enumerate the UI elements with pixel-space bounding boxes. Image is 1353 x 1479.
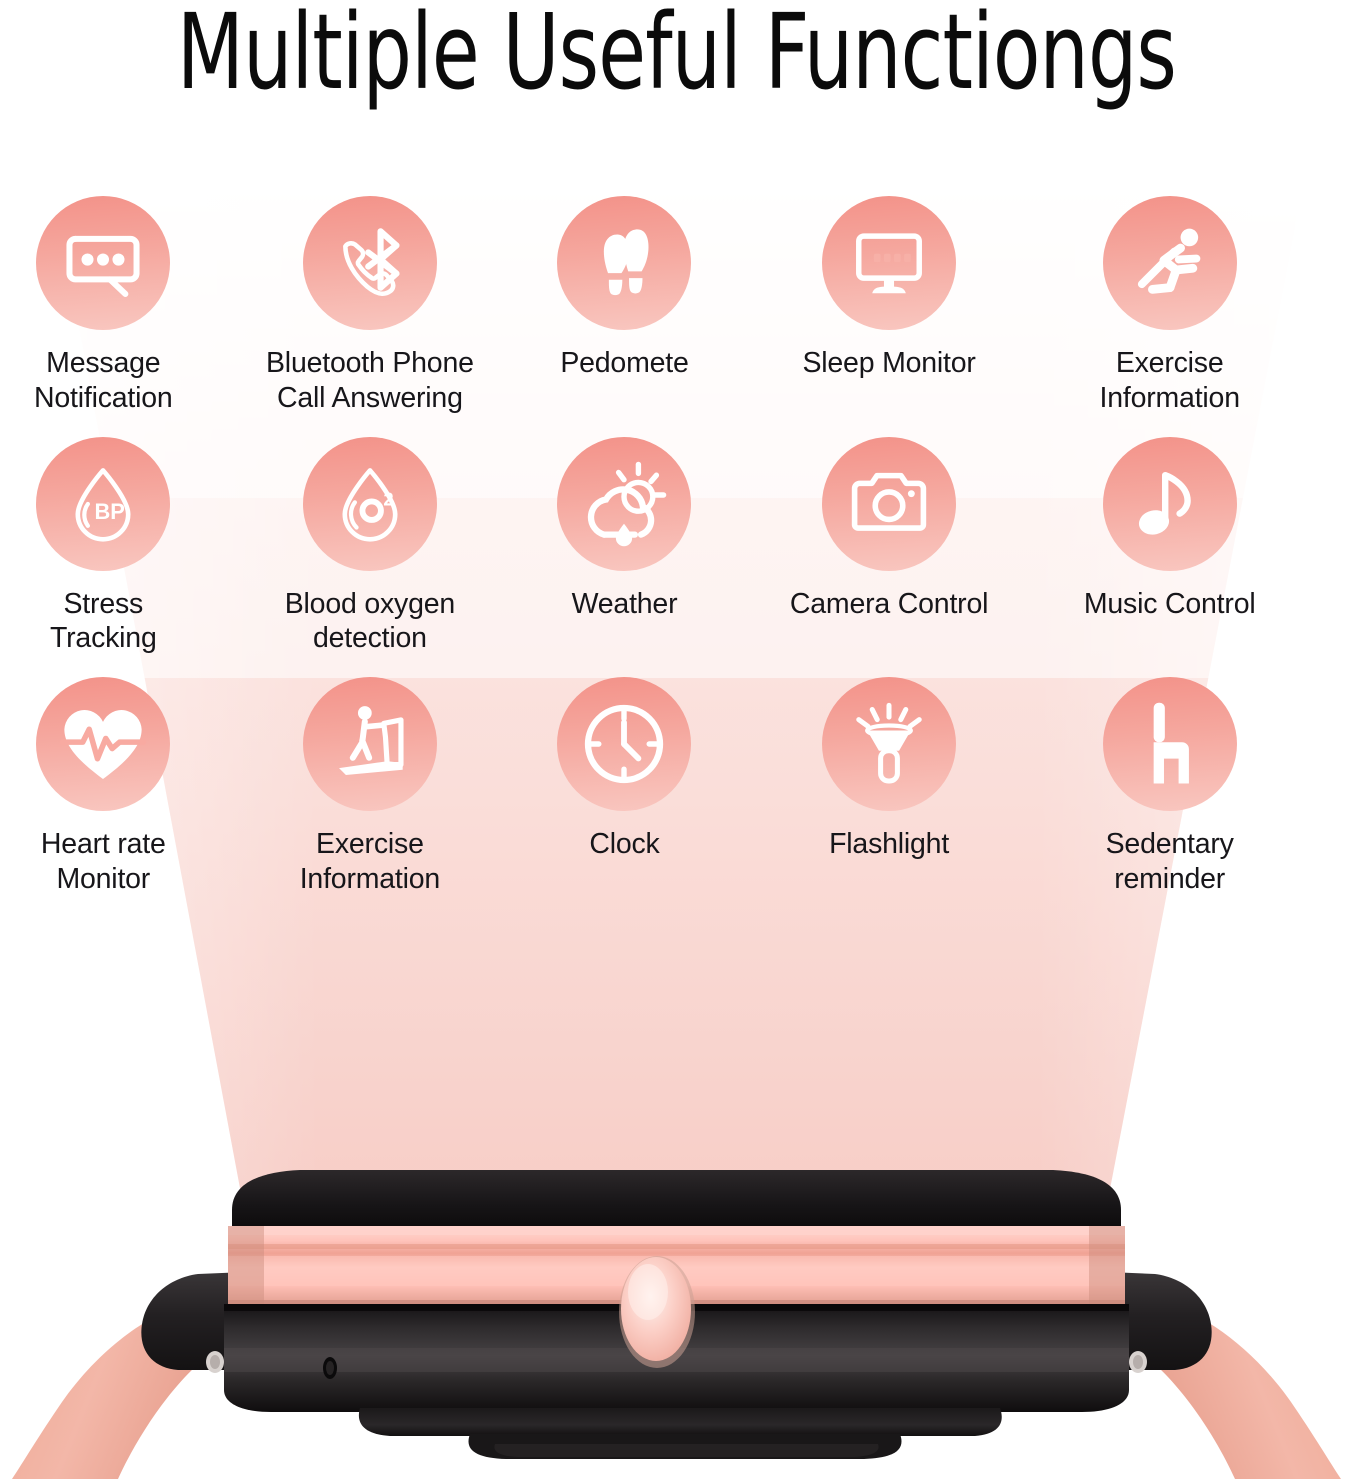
icon-circle: 2 bbox=[303, 437, 437, 571]
feature-label: Camera Control bbox=[790, 587, 988, 622]
feature-label: Clock bbox=[589, 827, 659, 862]
icon-circle bbox=[36, 677, 170, 811]
feature-label: Music Control bbox=[1084, 587, 1256, 622]
icon-circle bbox=[1103, 196, 1237, 330]
monitor-screen-icon bbox=[847, 221, 931, 305]
blood-drop-bp-icon: BP bbox=[61, 462, 145, 546]
feature-item-pedometer[interactable]: Pedomete bbox=[489, 196, 760, 416]
icon-circle bbox=[822, 437, 956, 571]
feature-label: Bluetooth Phone Call Answering bbox=[266, 346, 474, 416]
feature-label: Stress Tracking bbox=[50, 587, 157, 657]
icon-circle bbox=[303, 677, 437, 811]
svg-text:BP: BP bbox=[95, 499, 125, 524]
icon-circle bbox=[303, 196, 437, 330]
camera-icon bbox=[846, 461, 932, 547]
footprints-icon bbox=[582, 221, 666, 305]
feature-label: Sedentary reminder bbox=[1106, 827, 1234, 897]
message-bubble-icon bbox=[60, 220, 146, 306]
icon-circle bbox=[822, 677, 956, 811]
feature-row: BP Stress Tracking 2 Bloo bbox=[0, 437, 1353, 657]
feature-item-sleep-monitor[interactable]: Sleep Monitor bbox=[754, 196, 1025, 416]
feature-label: Flashlight bbox=[829, 827, 949, 862]
bluetooth-phone-icon bbox=[326, 219, 414, 307]
feature-item-exercise-information-2[interactable]: Exercise Information bbox=[235, 677, 506, 897]
feature-item-bluetooth-phone-call-answering[interactable]: Bluetooth Phone Call Answering bbox=[235, 196, 506, 416]
feature-item-blood-oxygen-detection[interactable]: 2 Blood oxygen detection bbox=[235, 437, 506, 657]
feature-row: Message Notification Bluetooth Phone Cal… bbox=[0, 196, 1353, 416]
feature-item-message-notification[interactable]: Message Notification bbox=[0, 196, 239, 416]
chair-icon bbox=[1127, 701, 1213, 787]
feature-item-stress-tracking[interactable]: BP Stress Tracking bbox=[0, 437, 239, 657]
feature-item-camera-control[interactable]: Camera Control bbox=[754, 437, 1025, 657]
icon-circle bbox=[1103, 437, 1237, 571]
icon-circle: BP bbox=[36, 437, 170, 571]
feature-item-exercise-information-1[interactable]: Exercise Information bbox=[1034, 196, 1305, 416]
smartwatch-side-view bbox=[0, 1152, 1353, 1479]
svg-text:2: 2 bbox=[383, 488, 393, 509]
icon-circle bbox=[1103, 677, 1237, 811]
feature-label: Heart rate Monitor bbox=[41, 827, 166, 897]
feature-label: Exercise Information bbox=[300, 827, 440, 897]
feature-item-music-control[interactable]: Music Control bbox=[1034, 437, 1305, 657]
flashlight-icon bbox=[847, 702, 931, 786]
sun-cloud-rain-icon bbox=[579, 459, 669, 549]
feature-item-heart-rate-monitor[interactable]: Heart rate Monitor bbox=[0, 677, 239, 897]
icon-circle bbox=[557, 677, 691, 811]
feature-label: Message Notification bbox=[34, 346, 173, 416]
feature-row: Heart rate Monitor Exercise Informati bbox=[0, 677, 1353, 897]
feature-item-sedentary-reminder[interactable]: Sedentary reminder bbox=[1034, 677, 1305, 897]
side-button bbox=[619, 1256, 695, 1368]
blood-drop-o2-icon: 2 bbox=[328, 462, 412, 546]
page-title: Multiple Useful Functiongs bbox=[115, 0, 1238, 110]
icon-circle bbox=[557, 437, 691, 571]
icon-circle bbox=[557, 196, 691, 330]
feature-item-weather[interactable]: Weather bbox=[489, 437, 760, 657]
feature-item-clock[interactable]: Clock bbox=[489, 677, 760, 897]
heart-pulse-icon bbox=[57, 698, 149, 790]
feature-label: Blood oxygen detection bbox=[285, 587, 455, 657]
feature-label: Sleep Monitor bbox=[802, 346, 975, 381]
running-person-icon bbox=[1126, 219, 1214, 307]
music-note-icon bbox=[1130, 464, 1210, 544]
infographic-root: Multiple Useful Functiongs Message Noti bbox=[0, 0, 1353, 1479]
icon-circle bbox=[36, 196, 170, 330]
treadmill-icon bbox=[327, 701, 413, 787]
feature-grid: Message Notification Bluetooth Phone Cal… bbox=[0, 196, 1353, 897]
icon-circle bbox=[822, 196, 956, 330]
feature-label: Pedomete bbox=[560, 346, 688, 381]
feature-label: Weather bbox=[572, 587, 678, 622]
feature-label: Exercise Information bbox=[1099, 346, 1239, 416]
clock-icon bbox=[579, 699, 669, 789]
feature-item-flashlight[interactable]: Flashlight bbox=[754, 677, 1025, 897]
